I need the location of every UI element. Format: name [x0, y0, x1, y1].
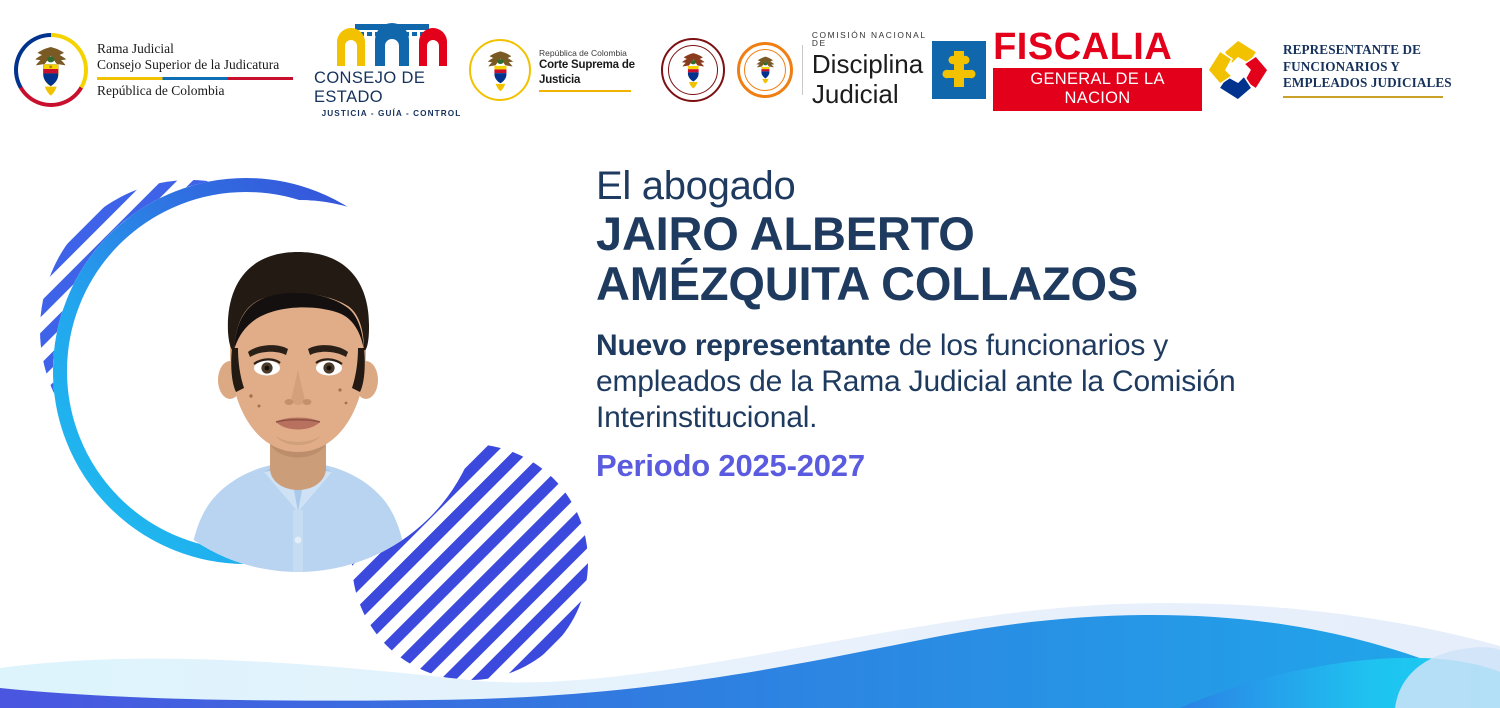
logo-line-2: FUNCIONARIOS Y	[1283, 59, 1452, 75]
tricolor-rule	[97, 77, 293, 80]
person-name: JAIRO ALBERTO AMÉZQUITA COLLAZOS	[596, 209, 1316, 310]
logo-fiscalia: FISCALIA GENERAL DE LA NACION	[932, 29, 1202, 111]
arch-building-icon	[333, 22, 451, 68]
logo-rama-judicial-text: Rama Judicial Consejo Superior de la Jud…	[97, 41, 293, 99]
logo-corte-constitucional	[649, 38, 737, 102]
period-label: Periodo 2025-2027	[596, 448, 1316, 484]
wave-stripes	[1120, 655, 1410, 708]
logo-fiscalia-subtitle: GENERAL DE LA NACION	[993, 68, 1202, 111]
logo-line-1: REPRESENTANTE DE	[1283, 42, 1452, 58]
announcement-canvas: Rama Judicial Consejo Superior de la Jud…	[0, 0, 1500, 708]
four-hands-icon	[1202, 34, 1274, 106]
logo-line-1: Rama Judicial	[97, 41, 293, 57]
logo-line-1: COMISIÓN NACIONAL DE	[812, 31, 932, 48]
crest-icon	[676, 51, 711, 88]
logo-line-3: Judicial	[812, 81, 932, 109]
logo-disciplina-judicial: COMISIÓN NACIONAL DE Disciplina Judicial	[737, 31, 932, 109]
logo-consejo-tagline: JUSTICIA - GUÍA - CONTROL	[322, 109, 462, 118]
logo-line-2: Corte Suprema de Justicia	[539, 58, 649, 87]
logo-line-2: Consejo Superior de la Judicatura	[97, 57, 293, 73]
person-name-line-2: AMÉZQUITA COLLAZOS	[596, 257, 1138, 310]
wave-cyan	[1180, 658, 1500, 708]
logo-line-3: EMPLEADOS JUDICIALES	[1283, 75, 1452, 91]
logo-line-2: Disciplina	[812, 51, 932, 79]
logo-corte-suprema-text: República de Colombia Corte Suprema de J…	[539, 48, 649, 93]
orange-seal-icon	[737, 42, 793, 98]
logo-line-1: República de Colombia	[539, 48, 649, 59]
institutional-logo-bar: Rama Judicial Consejo Superior de la Jud…	[0, 0, 1500, 140]
wave-accent	[1395, 647, 1500, 708]
logo-rama-judicial: Rama Judicial Consejo Superior de la Jud…	[14, 33, 314, 107]
person-name-line-1: JAIRO ALBERTO	[596, 207, 975, 260]
logo-fiscalia-title: FISCALIA	[993, 29, 1202, 65]
crest-icon	[27, 44, 75, 95]
portrait-frame	[60, 182, 510, 622]
logo-disciplina-text: COMISIÓN NACIONAL DE Disciplina Judicial	[812, 31, 932, 109]
logo-consejo-name: CONSEJO DE ESTADO	[314, 69, 469, 107]
wave-primary	[0, 615, 1500, 708]
colombia-coat-of-arms-seal-icon	[14, 33, 88, 107]
eyebrow-label: El abogado	[596, 165, 1316, 207]
logo-corte-suprema: República de Colombia Corte Suprema de J…	[469, 39, 649, 101]
portrait-photo	[112, 200, 484, 572]
announcement-text-block: El abogado JAIRO ALBERTO AMÉZQUITA COLLA…	[596, 165, 1316, 484]
logo-fiscalia-text: FISCALIA GENERAL DE LA NACION	[993, 29, 1202, 111]
logo-representante-text: REPRESENTANTE DE FUNCIONARIOS Y EMPLEADO…	[1283, 42, 1452, 97]
gold-rule	[539, 90, 631, 93]
portrait-circle	[112, 200, 484, 572]
vertical-divider	[802, 45, 803, 95]
gold-rule	[1283, 96, 1443, 98]
crest-icon	[481, 49, 520, 91]
logo-line-3: República de Colombia	[97, 83, 293, 99]
colombia-coat-of-arms-seal-icon	[469, 39, 531, 101]
role-description: Nuevo representante de los funcionarios …	[596, 328, 1316, 436]
crest-icon	[751, 54, 780, 85]
role-description-bold: Nuevo representante	[596, 329, 891, 362]
corte-constitucional-seal-icon	[661, 38, 725, 102]
logo-representante-funcionarios: REPRESENTANTE DE FUNCIONARIOS Y EMPLEADO…	[1202, 34, 1467, 106]
puzzle-piece-icon	[932, 41, 986, 99]
logo-consejo-de-estado: CONSEJO DE ESTADO JUSTICIA - GUÍA - CONT…	[314, 22, 469, 118]
